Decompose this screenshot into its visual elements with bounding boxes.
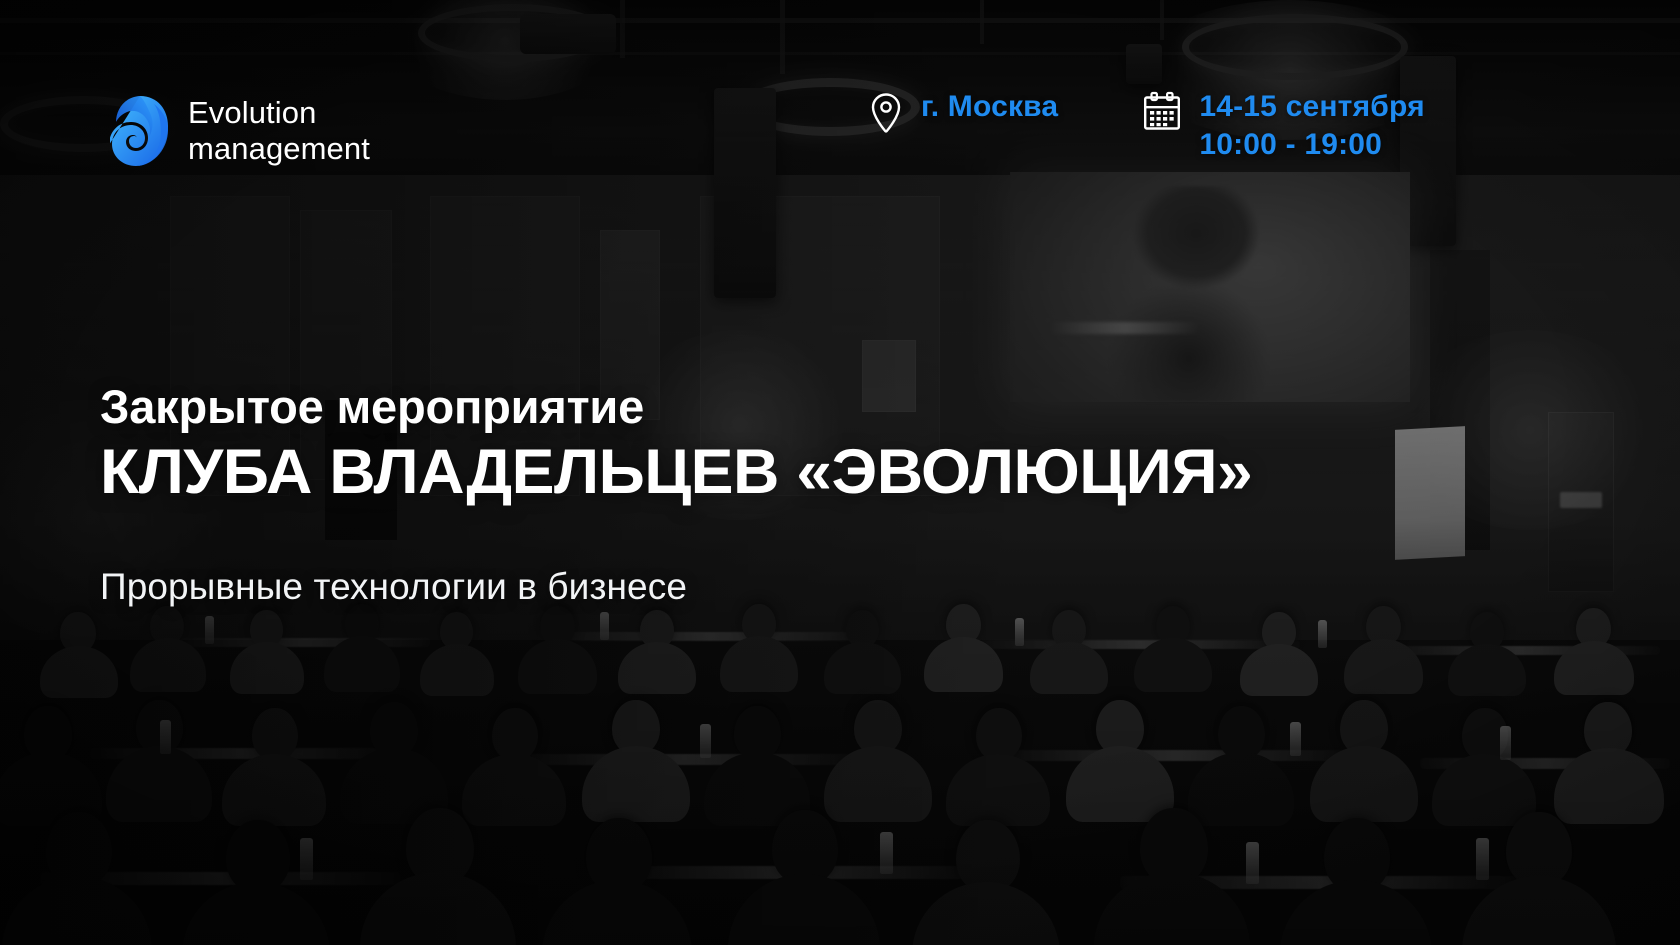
hero-subtitle: Прорывные технологии в бизнесе [100, 567, 1230, 608]
brand-logo-lockup[interactable]: Evolution management [110, 94, 370, 168]
map-pin-icon [868, 91, 904, 140]
hero-text-block: Закрытое мероприятие КЛУБА ВЛАДЕЛЬЦЕВ «Э… [100, 382, 1230, 608]
event-time-line: 10:00 - 19:00 [1199, 128, 1382, 161]
event-meta: г. Москва [868, 88, 1425, 164]
event-location: г. Москва [868, 88, 1058, 140]
brand-name-line2: management [188, 131, 370, 167]
event-date-text: 14-15 сентября 10:00 - 19:00 [1199, 88, 1425, 164]
evolution-swirl-logo-icon [110, 94, 170, 168]
event-date: 14-15 сентября 10:00 - 19:00 [1142, 88, 1425, 164]
calendar-icon [1142, 91, 1182, 138]
brand-name-line1: Evolution [188, 95, 370, 131]
event-location-text: г. Москва [921, 88, 1058, 126]
hero-eyebrow: Закрытое мероприятие [100, 382, 1230, 432]
hero-title: КЛУБА ВЛАДЕЛЬЦЕВ «ЭВОЛЮЦИЯ» [100, 439, 1252, 505]
event-banner: Evolution management г. Москва [0, 0, 1680, 945]
event-date-line1: 14-15 сентября [1199, 90, 1425, 123]
